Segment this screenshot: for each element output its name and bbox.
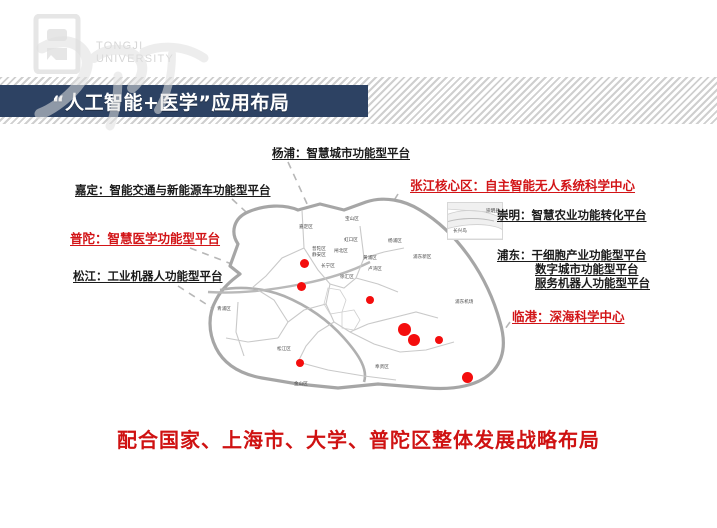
airport-marker bbox=[435, 336, 443, 344]
map-district-label: 徐汇区 bbox=[340, 274, 354, 280]
lingang-marker bbox=[462, 372, 473, 383]
map-district-label: 长宁区 bbox=[321, 263, 335, 269]
map-district-label: 金山区 bbox=[294, 381, 308, 387]
callout-line: 浦东：干细胞产业功能型平台 bbox=[497, 248, 650, 262]
callout-text: 嘉定：智能交通与新能源车功能型平台 bbox=[75, 183, 271, 197]
callout-yangpu: 杨浦：智慧城市功能型平台 bbox=[272, 146, 410, 161]
callout-lingang: 临港：深海科学中心 bbox=[512, 309, 625, 324]
logo-line-2: UNIVERSITY bbox=[96, 53, 174, 66]
songjiang-marker bbox=[296, 359, 304, 367]
logo-wordmark: TONGJI UNIVERSITY bbox=[96, 40, 174, 66]
map-district-label: 闸北区 bbox=[334, 248, 348, 254]
map-district-label: 宝山区 bbox=[345, 216, 359, 222]
callout-text: 浦东：干细胞产业功能型平台 bbox=[497, 248, 647, 262]
callout-text: 杨浦：智慧城市功能型平台 bbox=[272, 146, 410, 160]
yangpu-marker bbox=[366, 296, 374, 304]
callout-text: 临港：深海科学中心 bbox=[512, 309, 625, 324]
map-district-label: 黄浦区 bbox=[363, 255, 377, 261]
page-title: “人工智能+医学”应用布局 bbox=[52, 88, 289, 115]
map-district-label: 静安区 bbox=[312, 252, 326, 258]
callout-songjiang: 松江：工业机器人功能型平台 bbox=[73, 269, 223, 284]
callout-text: 张江核心区：自主智能无人系统科学中心 bbox=[410, 178, 635, 193]
map-district-label: 松江区 bbox=[277, 346, 291, 352]
map-district-label: 嘉定区 bbox=[299, 224, 313, 230]
map-district-label: 浦东新区 bbox=[413, 254, 431, 260]
tongji-seal-icon bbox=[28, 14, 86, 74]
map-district-label: 卢湾区 bbox=[368, 266, 382, 272]
zhangjiang-marker bbox=[398, 323, 411, 336]
callout-text: 崇明：智慧农业功能转化平台 bbox=[497, 208, 647, 222]
inset-map-label: 长兴岛 bbox=[453, 228, 467, 234]
section-title-bar: “人工智能+医学”应用布局 bbox=[0, 85, 368, 117]
callout-pudong: 浦东：干细胞产业功能型平台数字城市功能型平台服务机器人功能型平台 bbox=[497, 248, 650, 290]
callout-text: 普陀：智慧医学功能型平台 bbox=[70, 231, 220, 246]
callout-chongming: 崇明：智慧农业功能转化平台 bbox=[497, 208, 647, 223]
map-district-label: 奉贤区 bbox=[375, 364, 389, 370]
logo-line-1: TONGJI bbox=[96, 40, 174, 53]
callout-putuo: 普陀：智慧医学功能型平台 bbox=[70, 231, 220, 246]
callout-text: 数字城市功能型平台 bbox=[535, 262, 639, 276]
pudong-marker bbox=[408, 334, 420, 346]
footer-slogan: 配合国家、上海市、大学、普陀区整体发展战略布局 bbox=[0, 424, 717, 453]
callout-text: 松江：工业机器人功能型平台 bbox=[73, 269, 223, 283]
callout-jiading: 嘉定：智能交通与新能源车功能型平台 bbox=[75, 183, 271, 198]
slide-body: 嘉定区宝山区虹口区闸北区杨浦区普陀区静安区长宁区黄浦区浦东新区卢湾区徐汇区青浦区… bbox=[0, 124, 717, 528]
callout-line: 服务机器人功能型平台 bbox=[497, 276, 650, 290]
putuo-marker bbox=[297, 282, 306, 291]
jiading-marker bbox=[300, 259, 309, 268]
map-district-label: 杨浦区 bbox=[388, 238, 402, 244]
callout-zhangjiang: 张江核心区：自主智能无人系统科学中心 bbox=[410, 178, 635, 193]
callout-line: 数字城市功能型平台 bbox=[497, 262, 650, 276]
map-district-label: 浦东机场 bbox=[455, 299, 473, 305]
map-district-label: 青浦区 bbox=[217, 306, 231, 312]
page-header: TONGJI UNIVERSITY bbox=[0, 0, 717, 85]
map-district-label: 虹口区 bbox=[344, 237, 358, 243]
callout-text: 服务机器人功能型平台 bbox=[535, 276, 650, 290]
